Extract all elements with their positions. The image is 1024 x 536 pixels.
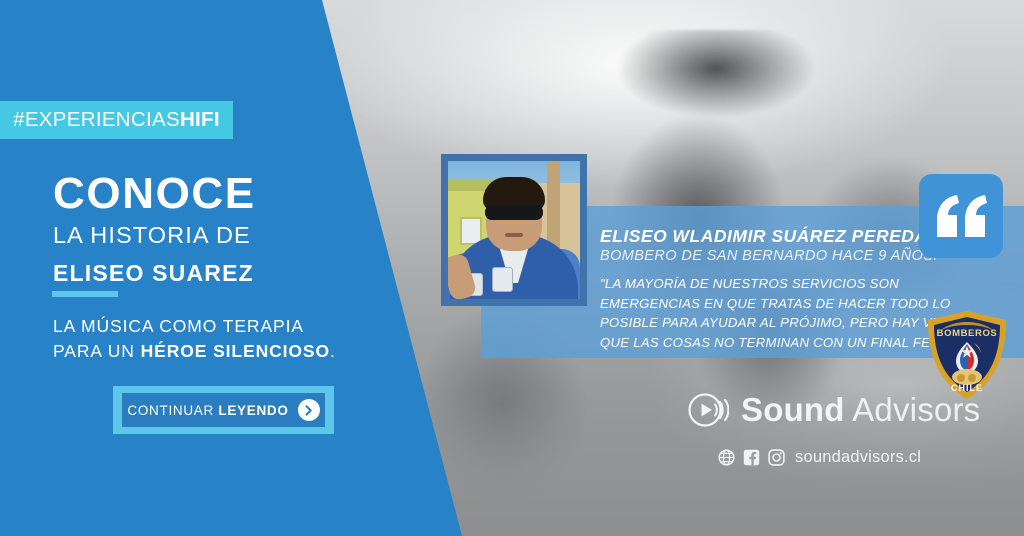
hashtag-prefix: #EXPERIENCIAS (13, 108, 180, 131)
chevron-right-icon (298, 399, 320, 421)
cta-inner-fill: CONTINUAR LEYENDO (122, 393, 325, 427)
sunglasses-icon (485, 205, 543, 220)
headline-subtitle: LA HISTORIA DE (53, 223, 353, 248)
accent-divider (52, 291, 118, 297)
tagline-line-2-suffix: . (330, 341, 336, 361)
tagline-line-1: LA MÚSICA COMO TERAPIA (53, 316, 304, 336)
promo-banner: #EXPERIENCIASHIFI CONOCE LA HISTORIA DE … (0, 0, 1024, 536)
quote-person-role: BOMBERO DE SAN BERNARDO HACE 9 AÑOS. (600, 248, 938, 264)
headline-title: CONOCE (53, 172, 353, 217)
cta-label: CONTINUAR LEYENDO (127, 403, 288, 418)
tagline: LA MÚSICA COMO TERAPIA PARA UN HÉROE SIL… (53, 314, 383, 364)
tagline-line-2-strong: HÉROE SILENCIOSO (141, 341, 330, 361)
portrait-uniform-badge-right (492, 267, 513, 292)
instagram-icon[interactable] (768, 449, 785, 466)
portrait-photo (441, 154, 587, 306)
play-sound-wave-icon (687, 389, 729, 431)
logo-light-word: Advisors (845, 391, 981, 428)
svg-text:BOMBEROS: BOMBEROS (937, 328, 998, 339)
bomberos-chile-shield-icon: BOMBEROS CHILE (924, 309, 1010, 401)
social-row: soundadvisors.cl (718, 448, 921, 467)
cta-label-normal: CONTINUAR (127, 403, 218, 418)
quote-person-name: ELISEO WLADIMIR SUÁREZ PEREDA (600, 226, 928, 247)
continuar-leyendo-button[interactable]: CONTINUAR LEYENDO (113, 386, 334, 434)
hashtag-badge-text: #EXPERIENCIASHIFI (13, 108, 220, 132)
cta-label-strong: LEYENDO (218, 403, 288, 418)
facebook-icon[interactable] (743, 449, 760, 466)
portrait-mouth (505, 233, 523, 237)
quotation-mark-icon (919, 174, 1003, 258)
headline-block: CONOCE LA HISTORIA DE ELISEO SUAREZ (53, 172, 353, 285)
social-handle-text[interactable]: soundadvisors.cl (795, 448, 921, 467)
sound-advisors-logo: Sound Advisors (687, 389, 980, 431)
sound-advisors-wordmark: Sound Advisors (741, 391, 980, 429)
headline-person-name: ELISEO SUAREZ (53, 261, 353, 285)
globe-icon[interactable] (718, 449, 735, 466)
logo-bold-word: Sound (741, 391, 845, 428)
hashtag-badge: #EXPERIENCIASHIFI (0, 101, 233, 139)
tagline-line-2-prefix: PARA UN (53, 341, 141, 361)
hashtag-suffix: HIFI (180, 108, 220, 131)
